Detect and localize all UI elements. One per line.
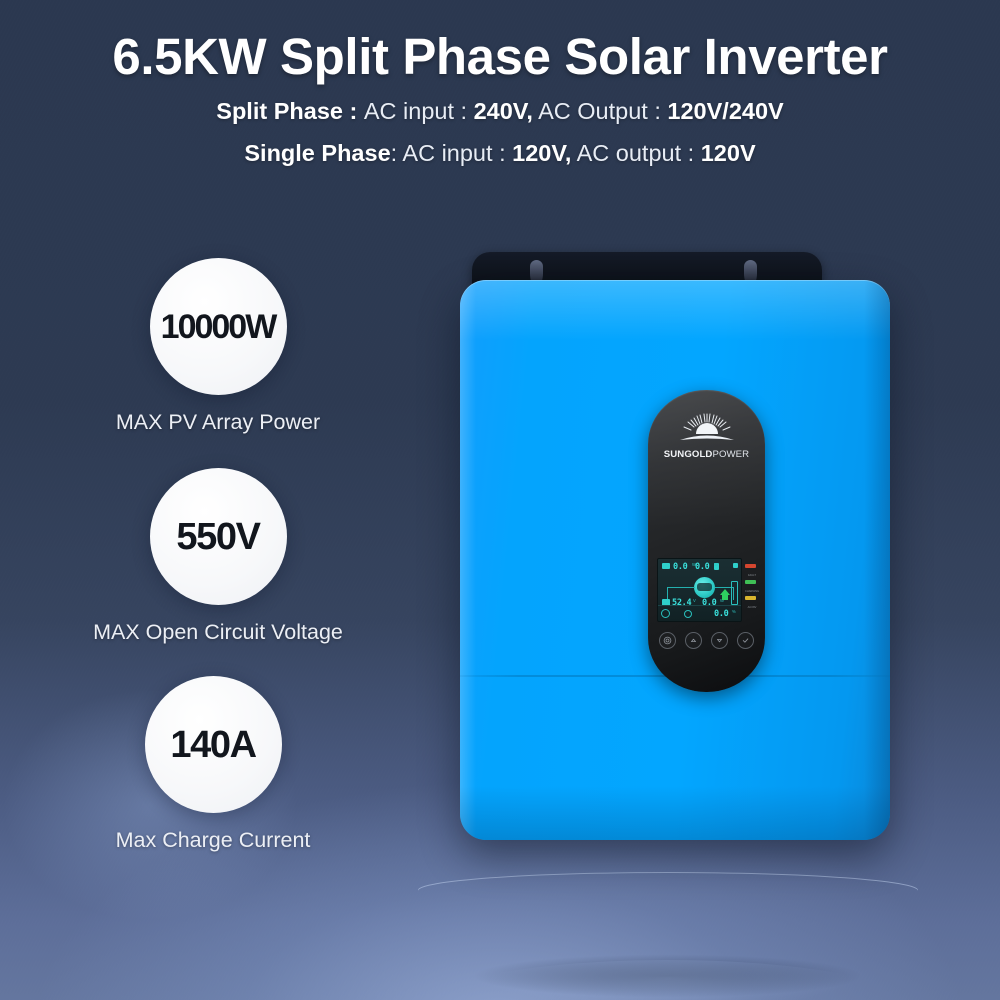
control-panel: SUNGOLDPOWER 0.0 W 0.0 W — [648, 390, 765, 692]
body-left-highlight — [460, 280, 476, 840]
feature-badge-charge-current: 140A Max Charge Current — [48, 676, 378, 853]
signal-icon — [733, 563, 738, 568]
feature-circle: 10000W — [150, 258, 287, 395]
feature-label: MAX Open Circuit Voltage — [38, 620, 398, 645]
chevron-up-icon — [689, 636, 698, 645]
spec-fragment: Single Phase — [244, 140, 390, 166]
brand-secondary: POWER — [712, 449, 749, 460]
led-fault-label: FAULT — [745, 574, 759, 577]
ac-power-unit: W — [714, 562, 718, 567]
inverter-status-icon — [694, 577, 715, 598]
body-bottom-shadow — [460, 786, 890, 840]
brand-primary: SUNGOLD — [664, 449, 713, 460]
spec-fragment: AC input : — [364, 98, 474, 124]
sunburst-icon — [648, 412, 765, 446]
lcd-display[interactable]: 0.0 W 0.0 W 52.4 V 0.0 W — [657, 558, 742, 622]
feature-circle: 140A — [145, 676, 282, 813]
load-percent-unit: % — [732, 609, 736, 614]
feature-badge-pv-power: 10000W MAX PV Array Power — [58, 258, 378, 435]
esc-icon — [663, 636, 672, 645]
page-title: 6.5KW Split Phase Solar Inverter — [0, 0, 1000, 83]
inverter-product-image: SUNGOLDPOWER 0.0 W 0.0 W — [430, 240, 910, 920]
led-indicator-group: FAULT CHARGING AC/INV — [745, 564, 759, 612]
body-highlight — [460, 280, 890, 340]
spec-fragment: 120V, — [512, 140, 571, 166]
pv-panel-icon — [662, 563, 670, 569]
brand-name: SUNGOLDPOWER — [648, 449, 765, 460]
feature-value: 140A — [170, 726, 255, 764]
spec-fragment: 120V — [701, 140, 756, 166]
led-ac-inv-label: AC/INV — [745, 606, 759, 609]
body-right-shadow — [864, 280, 890, 840]
header: 6.5KW Split Phase Solar Inverter Split P… — [0, 0, 1000, 169]
spec-line-single-phase: Single Phase: AC input : 120V, AC output… — [0, 139, 1000, 168]
spec-fragment: AC Output : — [533, 98, 668, 124]
led-ac-inv — [745, 596, 756, 600]
spec-fragment: AC output : — [571, 140, 700, 166]
led-charging-label: CHARGING — [745, 590, 759, 593]
check-icon — [741, 636, 750, 645]
battery-level-bar — [731, 581, 738, 605]
load-percent-value: 0.0 — [714, 609, 728, 619]
status-face — [697, 583, 712, 591]
led-fault — [745, 564, 756, 568]
led-charging — [745, 580, 756, 584]
chevron-down-icon — [715, 636, 724, 645]
feature-badge-open-circuit-voltage: 550V MAX Open Circuit Voltage — [38, 468, 398, 645]
feature-label: MAX PV Array Power — [58, 410, 378, 435]
esc-button[interactable] — [659, 632, 676, 649]
settings-icon — [684, 610, 692, 618]
inverter-body: SUNGOLDPOWER 0.0 W 0.0 W — [460, 280, 890, 840]
up-button[interactable] — [685, 632, 702, 649]
lcd-status-bar: 0.0 % — [658, 605, 741, 621]
down-button[interactable] — [711, 632, 728, 649]
spec-fragment: 240V, — [474, 98, 533, 124]
spec-fragment: 120V/240V — [667, 98, 783, 124]
feature-circle: 550V — [150, 468, 287, 605]
battery-voltage-unit: V — [693, 598, 696, 603]
spec-fragment: Split Phase : — [216, 98, 364, 124]
product-banner: 6.5KW Split Phase Solar Inverter Split P… — [0, 0, 1000, 1000]
feature-label: Max Charge Current — [48, 828, 378, 853]
feature-value: 10000W — [161, 310, 276, 344]
brand-logo: SUNGOLDPOWER — [648, 412, 765, 460]
feature-value: 550V — [176, 518, 259, 556]
spec-fragment: : AC input : — [391, 140, 512, 166]
pv-power-value: 0.0 — [673, 562, 687, 572]
enter-button[interactable] — [737, 632, 754, 649]
spec-line-split-phase: Split Phase : AC input : 240V, AC Output… — [0, 97, 1000, 126]
mode-icon — [661, 609, 670, 618]
load-house-base — [722, 595, 728, 600]
touch-button-row — [648, 632, 765, 649]
ac-power-value: 0.0 — [695, 562, 709, 572]
